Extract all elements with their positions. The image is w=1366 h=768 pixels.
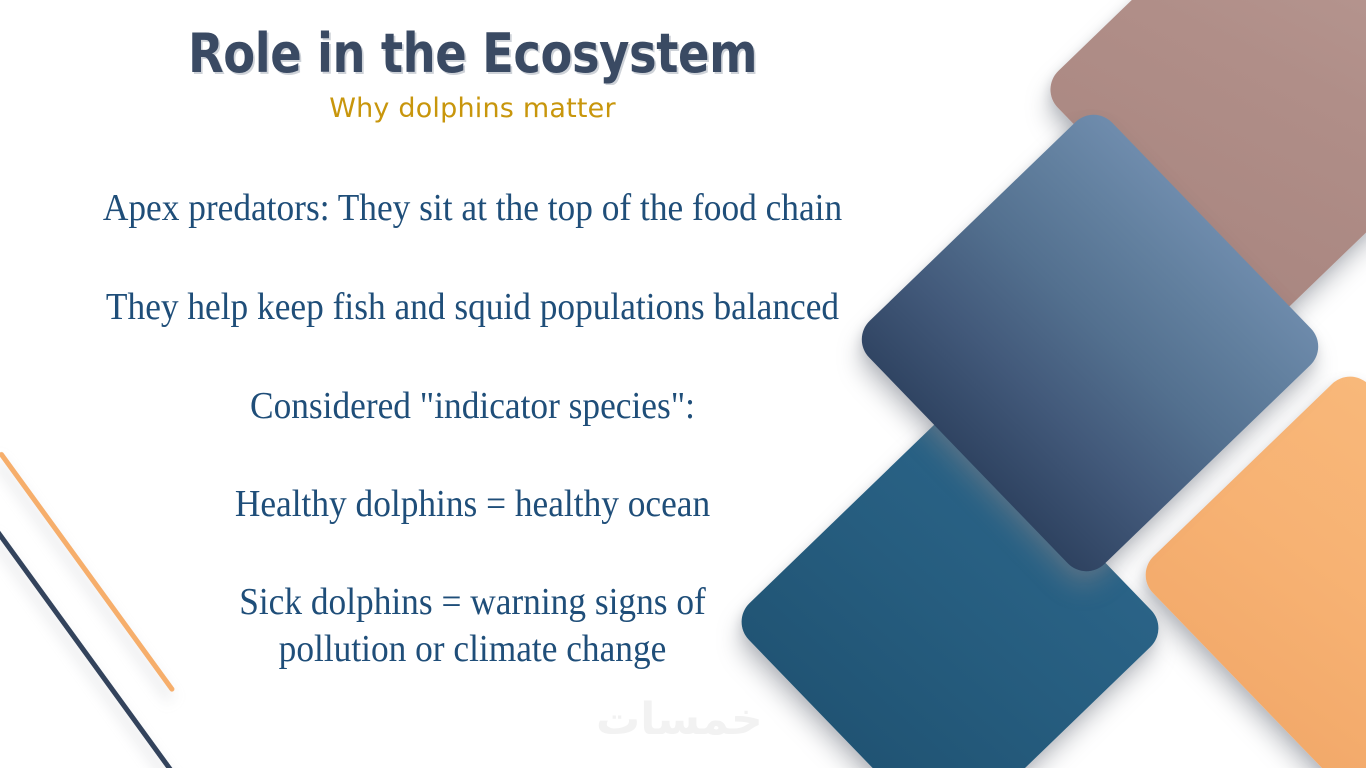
body-line: Sick dolphins = warning signs of polluti… <box>33 579 912 672</box>
body-line: Healthy dolphins = healthy ocean <box>33 481 912 527</box>
slide-header: Role in the Ecosystem Why dolphins matte… <box>0 26 945 124</box>
mauve-diamond-shape <box>1040 0 1366 326</box>
watermark-text: خمسات <box>596 694 763 745</box>
body-line: They help keep fish and squid population… <box>33 284 912 330</box>
orange-diamond-shape <box>1135 366 1366 768</box>
slide-subtitle: Why dolphins matter <box>0 93 945 124</box>
body-line: Considered "indicator species": <box>33 383 912 429</box>
page-title: Role in the Ecosystem <box>66 26 879 83</box>
presentation-slide: Role in the Ecosystem Why dolphins matte… <box>0 0 1366 768</box>
slide-body: Apex predators: They sit at the top of t… <box>0 185 945 672</box>
body-line: Apex predators: They sit at the top of t… <box>33 185 912 231</box>
